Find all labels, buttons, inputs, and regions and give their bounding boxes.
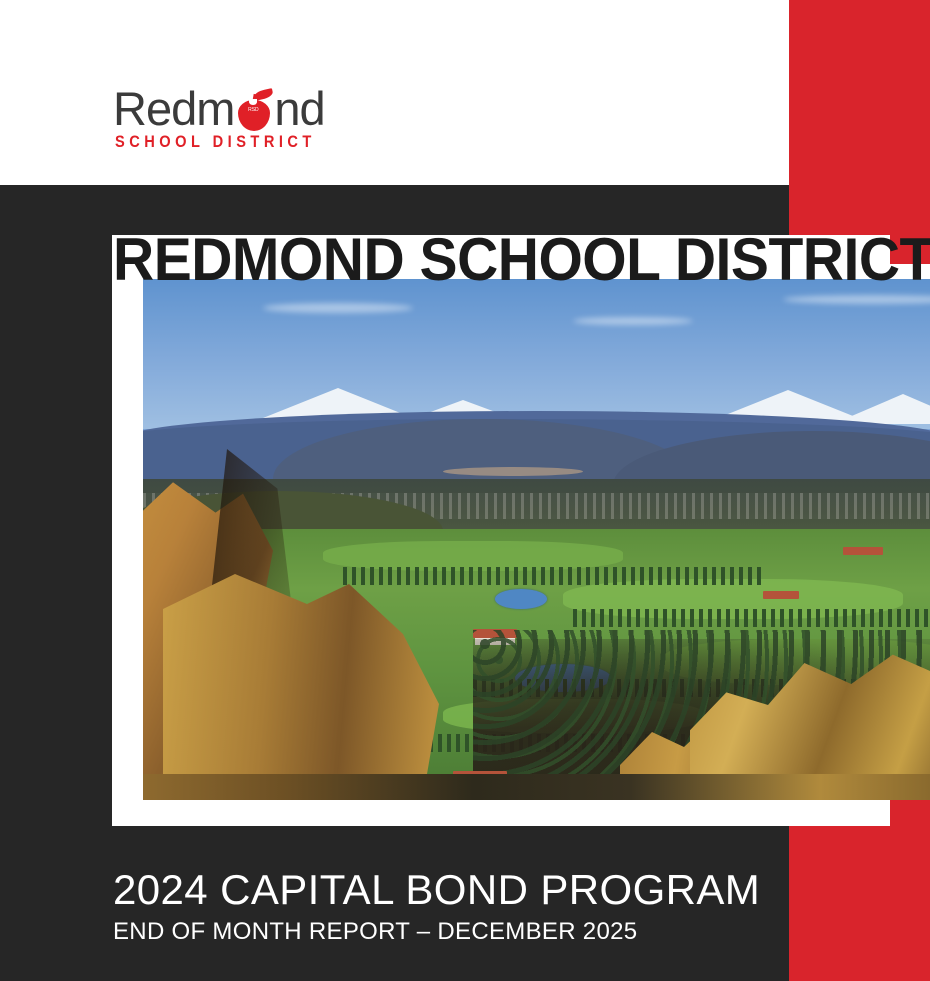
photo-butte-scar <box>443 467 583 476</box>
red-accent-bar-top <box>789 0 930 264</box>
report-cover-page: RedmRSDnd SCHOOL DISTRICT <box>0 0 930 981</box>
photo-cloud <box>573 317 693 325</box>
photo-cloud <box>263 303 413 313</box>
photo-foreground-strip <box>143 774 930 800</box>
logo-subtitle: SCHOOL DISTRICT <box>115 132 316 152</box>
photo-peak <box>833 394 930 424</box>
photo-pond <box>495 589 547 609</box>
logo-word-prefix: Redm <box>113 84 234 134</box>
photo-building-roof <box>843 547 883 555</box>
logo-wordmark: RedmRSDnd <box>113 84 343 134</box>
apple-inner-mark: RSD <box>247 108 259 117</box>
logo-word-suffix: nd <box>274 84 324 134</box>
page-title: REDMOND SCHOOL DISTRICT <box>113 228 930 292</box>
program-title: 2024 CAPITAL BOND PROGRAM <box>113 866 760 914</box>
red-accent-bar-bottom <box>789 800 930 981</box>
photo-tree-row <box>573 609 930 627</box>
cover-photo <box>143 279 930 800</box>
photo-building-roof <box>763 591 799 599</box>
photo-tree-row <box>343 567 763 585</box>
district-logo: RedmRSDnd SCHOOL DISTRICT <box>113 84 343 156</box>
apple-icon: RSD <box>234 88 274 134</box>
report-subtitle: END OF MONTH REPORT – DECEMBER 2025 <box>113 917 637 947</box>
